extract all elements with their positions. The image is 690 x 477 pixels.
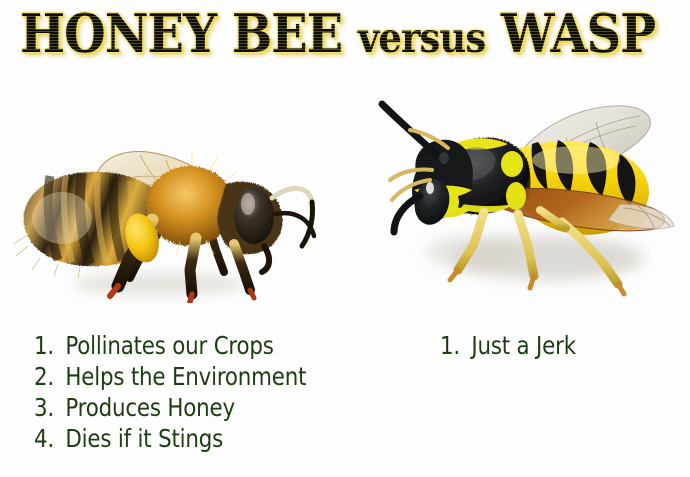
list-item-label: Pollinates our Crops xyxy=(65,331,273,360)
list-item: 1. Just a Jerk xyxy=(440,330,576,361)
list-item-label: Just a Jerk xyxy=(471,331,576,360)
bee-compound-eye xyxy=(234,188,274,244)
title-bar: HONEY BEE versus WASP xyxy=(0,0,690,72)
poster-canvas: HONEY BEE versus WASP xyxy=(0,0,690,477)
list-item: 4. Dies if it Stings xyxy=(34,423,306,454)
list-item-number: 1. xyxy=(34,331,54,360)
wasp-fact-list: 1. Just a Jerk xyxy=(440,330,583,361)
list-item-label: Helps the Environment xyxy=(65,362,306,391)
bee-ground-shadow xyxy=(74,273,246,295)
list-item-number: 1. xyxy=(440,331,460,360)
wasp-eye-highlight xyxy=(426,182,434,194)
bee-mouthparts xyxy=(262,246,269,272)
list-item-number: 3. xyxy=(34,393,54,422)
list-item: 3. Produces Honey xyxy=(34,392,306,423)
list-item: 1. Pollinates our Crops xyxy=(34,330,306,361)
honey-bee-photo xyxy=(10,78,330,303)
title-part-honey-bee: HONEY BEE xyxy=(20,3,342,65)
list-item-label: Produces Honey xyxy=(65,393,235,422)
bee-fact-list: 1. Pollinates our Crops 2. Helps the Env… xyxy=(34,330,321,454)
list-item: 2. Helps the Environment xyxy=(34,361,306,392)
title-part-wasp: WASP xyxy=(501,3,655,65)
list-item-number: 4. xyxy=(34,424,54,453)
page-title: HONEY BEE versus WASP xyxy=(20,4,605,68)
list-item-label: Dies if it Stings xyxy=(65,424,223,453)
title-part-versus: versus xyxy=(358,14,485,62)
wasp-photo xyxy=(352,80,682,305)
list-item-number: 2. xyxy=(34,362,54,391)
